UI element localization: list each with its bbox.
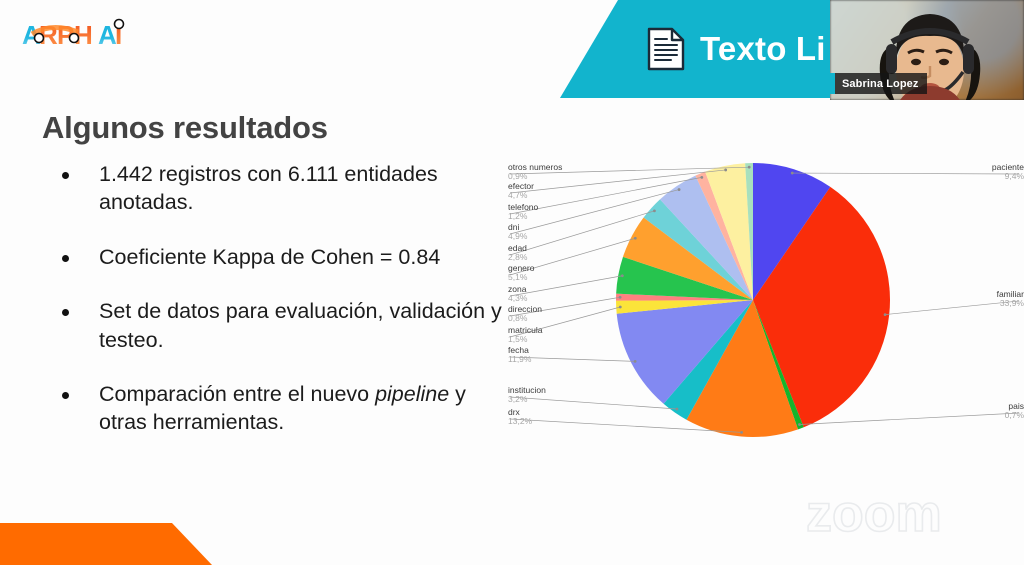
pie-label: otros numeros0,9% [508,163,562,181]
pie-label-value: 1,2% [508,212,538,221]
pie-label-value: 5,1% [508,273,534,282]
pie-label: direccion0,8% [508,305,542,323]
pie-label-value: 3,2% [508,395,546,404]
pie-leader-dot [740,431,743,434]
list-item: Set de datos para evaluación, validación… [62,297,514,354]
pie-label-value: 4,3% [508,294,527,303]
svg-text:zoom: zoom [806,489,942,541]
arph-ai-logo: A R P H A I [22,16,132,56]
bullet-dot-icon [62,255,69,262]
pie-leader-dot [619,296,622,299]
webcam-tile[interactable]: Sabrina Lopez [830,0,1024,100]
bullet-text-rich: Comparación entre el nuevo pipeline y ot… [99,380,514,437]
pie-chart: otros numeros0,9%efector4,7%telefono1,2%… [505,150,1024,450]
participant-nameplate: Sabrina Lopez [830,73,927,94]
pie-label-value: 9,4% [992,172,1024,181]
pie-label-value: 11,9% [508,355,531,364]
bullet-dot-icon [62,172,69,179]
pie-chart-svg [505,150,1024,450]
bullet-text-emphasis: pipeline [375,382,449,406]
pie-label: institucion3,2% [508,386,546,404]
pie-label-value: 33,9% [997,299,1024,308]
page-title: Algunos resultados [42,110,328,146]
pie-leader-dot [678,188,681,191]
pie-leader-dot [884,313,887,316]
pie-label: dni4,9% [508,223,527,241]
bullet-dot-icon [62,309,69,316]
pie-leader-line [792,173,1019,174]
bullet-list: 1.442 registros con 6.111 entidades anot… [62,160,514,463]
document-icon [646,26,686,72]
bullet-dot-icon [62,392,69,399]
pie-label: fecha11,9% [508,346,531,364]
pie-label: telefono1,2% [508,203,538,221]
nameplate-accent-bar [830,73,835,94]
list-item: 1.442 registros con 6.111 entidades anot… [62,160,514,217]
pie-label-value: 13,2% [508,417,532,426]
pie-leader-dot [621,274,624,277]
pie-label: genero5,1% [508,264,534,282]
orange-ribbon-decoration [0,523,212,565]
zoom-watermark: zoom [806,489,982,541]
pie-leader-dot [748,166,751,169]
pie-label-value: 2,8% [508,253,527,262]
pie-label-value: 1,5% [508,335,542,344]
pie-leader-dot [619,306,622,309]
pie-leader-dot [791,172,794,175]
pie-label: edad2,8% [508,244,527,262]
bullet-text: Coeficiente Kappa de Cohen = 0.84 [99,243,440,271]
slide-canvas: A R P H A I Texto Li [0,0,1024,565]
pie-label: paciente9,4% [992,163,1024,181]
pie-leader-dot [653,209,656,212]
pie-label: efector4,7% [508,182,534,200]
pie-label-value: 0,9% [508,172,562,181]
pie-label-value: 4,7% [508,191,534,200]
pie-label: pais0,7% [1005,402,1024,420]
pie-label-value: 4,9% [508,232,527,241]
pie-label: drx13,2% [508,408,532,426]
pie-leader-dot [634,237,637,240]
participant-name: Sabrina Lopez [842,78,918,90]
bullet-text-part: Comparación entre el nuevo [99,382,375,406]
pie-label-value: 0,8% [508,314,542,323]
list-item: Comparación entre el nuevo pipeline y ot… [62,380,514,437]
pie-label-value: 0,7% [1005,411,1024,420]
pie-leader-line [799,413,1019,425]
bullet-text: 1.442 registros con 6.111 entidades anot… [99,160,514,217]
list-item: Coeficiente Kappa de Cohen = 0.84 [62,243,514,271]
pie-leader-dot [798,423,801,426]
pie-leader-dot [700,176,703,179]
pie-label: familiar33,9% [997,290,1024,308]
bullet-text: Set de datos para evaluación, validación… [99,297,514,354]
pie-label: matricula1,5% [508,326,542,344]
pie-label: zona4,3% [508,285,527,303]
pie-leader-dot [676,408,679,411]
pie-leader-dot [634,360,637,363]
pie-leader-dot [724,169,727,172]
